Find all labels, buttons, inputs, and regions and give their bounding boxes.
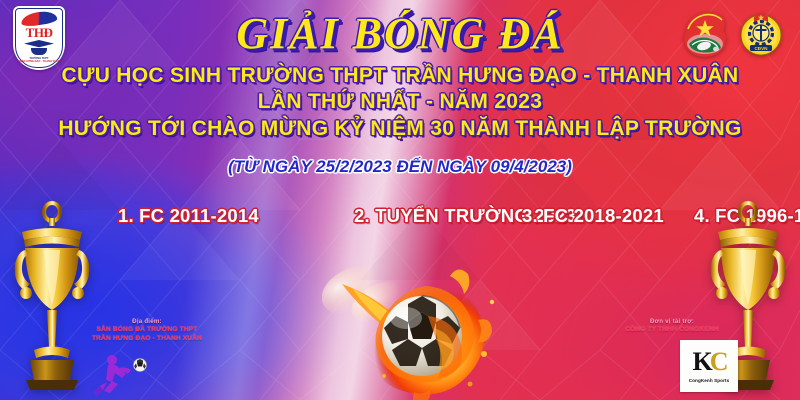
sponsor-logo-name: CongKenh Sports	[689, 378, 730, 383]
school-logo-line-2: TRẦN HƯNG ĐẠO - THANH XUÂN	[18, 60, 60, 63]
venue-line-1: SÂN BÓNG ĐÁ TRƯỜNG THPT	[62, 326, 232, 335]
team-list: 1. FC 2011-2014 2. TUYỂN TRƯỜNG 2023 3. …	[118, 199, 694, 233]
list-item: 3. FC 2018-2021	[522, 205, 694, 227]
venue-info: Địa điểm: SÂN BÓNG ĐÁ TRƯỜNG THPT TRẦN H…	[62, 318, 232, 344]
page-title: GIẢI BÓNG ĐÁ	[0, 8, 800, 59]
sponsor-logo-mark: KC	[692, 349, 725, 375]
subtitle-line-1: CỰU HỌC SINH TRƯỜNG THPT TRẦN HƯNG ĐẠO -…	[0, 64, 800, 88]
venue-line-2: TRẦN HƯNG ĐẠO - THANH XUÂN	[62, 335, 232, 344]
sponsor-logo: KC CongKenh Sports	[680, 340, 738, 392]
sponsor-logo-k: K	[692, 347, 709, 376]
subtitle-line-3: HƯỚNG TỚI CHÀO MỪNG KỶ NIỆM 30 NĂM THÀNH…	[0, 117, 800, 141]
subtitle-line-2: LẦN THỨ NHẤT - NĂM 2023	[0, 90, 800, 114]
flaming-soccer-ball-icon	[322, 258, 502, 400]
sponsor-logo-c: C	[710, 347, 726, 376]
sponsor-info: Đơn vị tài trợ: CÔNG TY TNHH CONGKENH	[582, 318, 762, 335]
tournament-banner: THĐ TRƯỜNG THPT TRẦN HƯNG ĐẠO - THANH XU…	[0, 0, 800, 400]
soccer-player-silhouette-icon	[88, 352, 158, 398]
tournament-dates: (TỪ NGÀY 25/2/2023 ĐẾN NGÀY 09/4/2023)	[0, 157, 800, 177]
list-item: 1. FC 2011-2014	[118, 205, 354, 227]
sponsor-name: CÔNG TY TNHH CONGKENH	[582, 326, 762, 335]
trophy-icon	[4, 198, 100, 394]
list-item: 2. TUYỂN TRƯỜNG 2023	[354, 205, 522, 227]
